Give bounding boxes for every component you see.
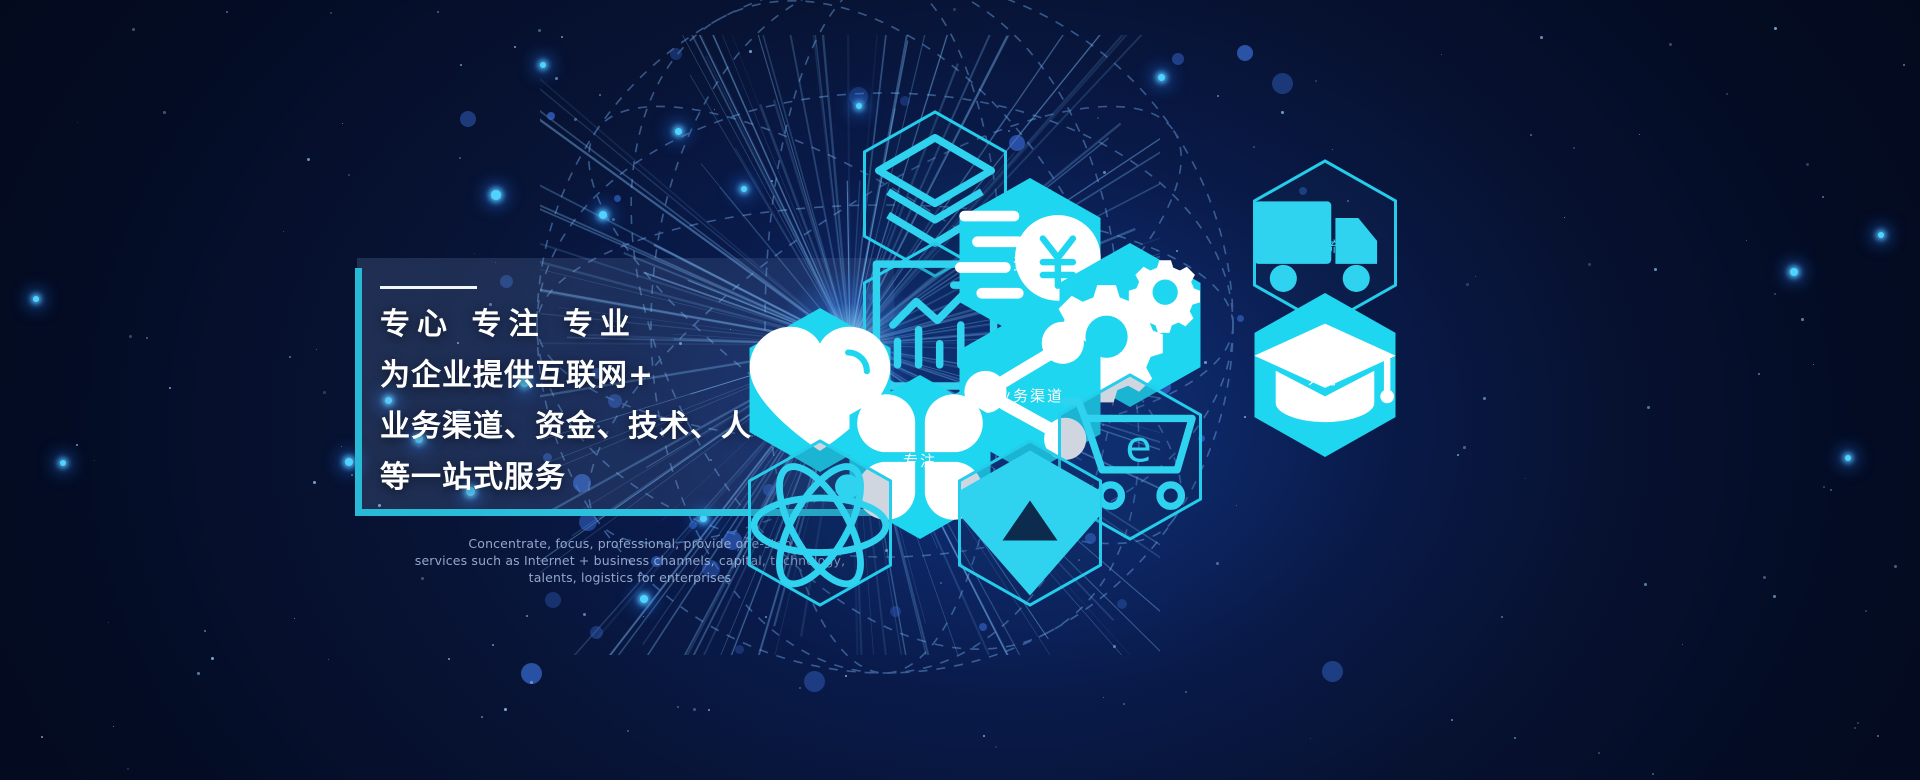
svg-text:e: e [1125,422,1151,472]
hexagon-cluster: 物流 资金 [900,100,1920,660]
banner-hero: 专心 专注 专业 为企业提供互联网+ 业务渠道、资金、技术、人才、物流 等一站式… [0,0,1920,780]
hexagon-talent[interactable]: 人才 [1250,290,1400,460]
title-rule [380,286,477,289]
hexagon-atom[interactable] [745,438,895,608]
accent-bar-vertical [355,268,362,516]
hexagon-professional[interactable]: 专业 [955,438,1105,608]
